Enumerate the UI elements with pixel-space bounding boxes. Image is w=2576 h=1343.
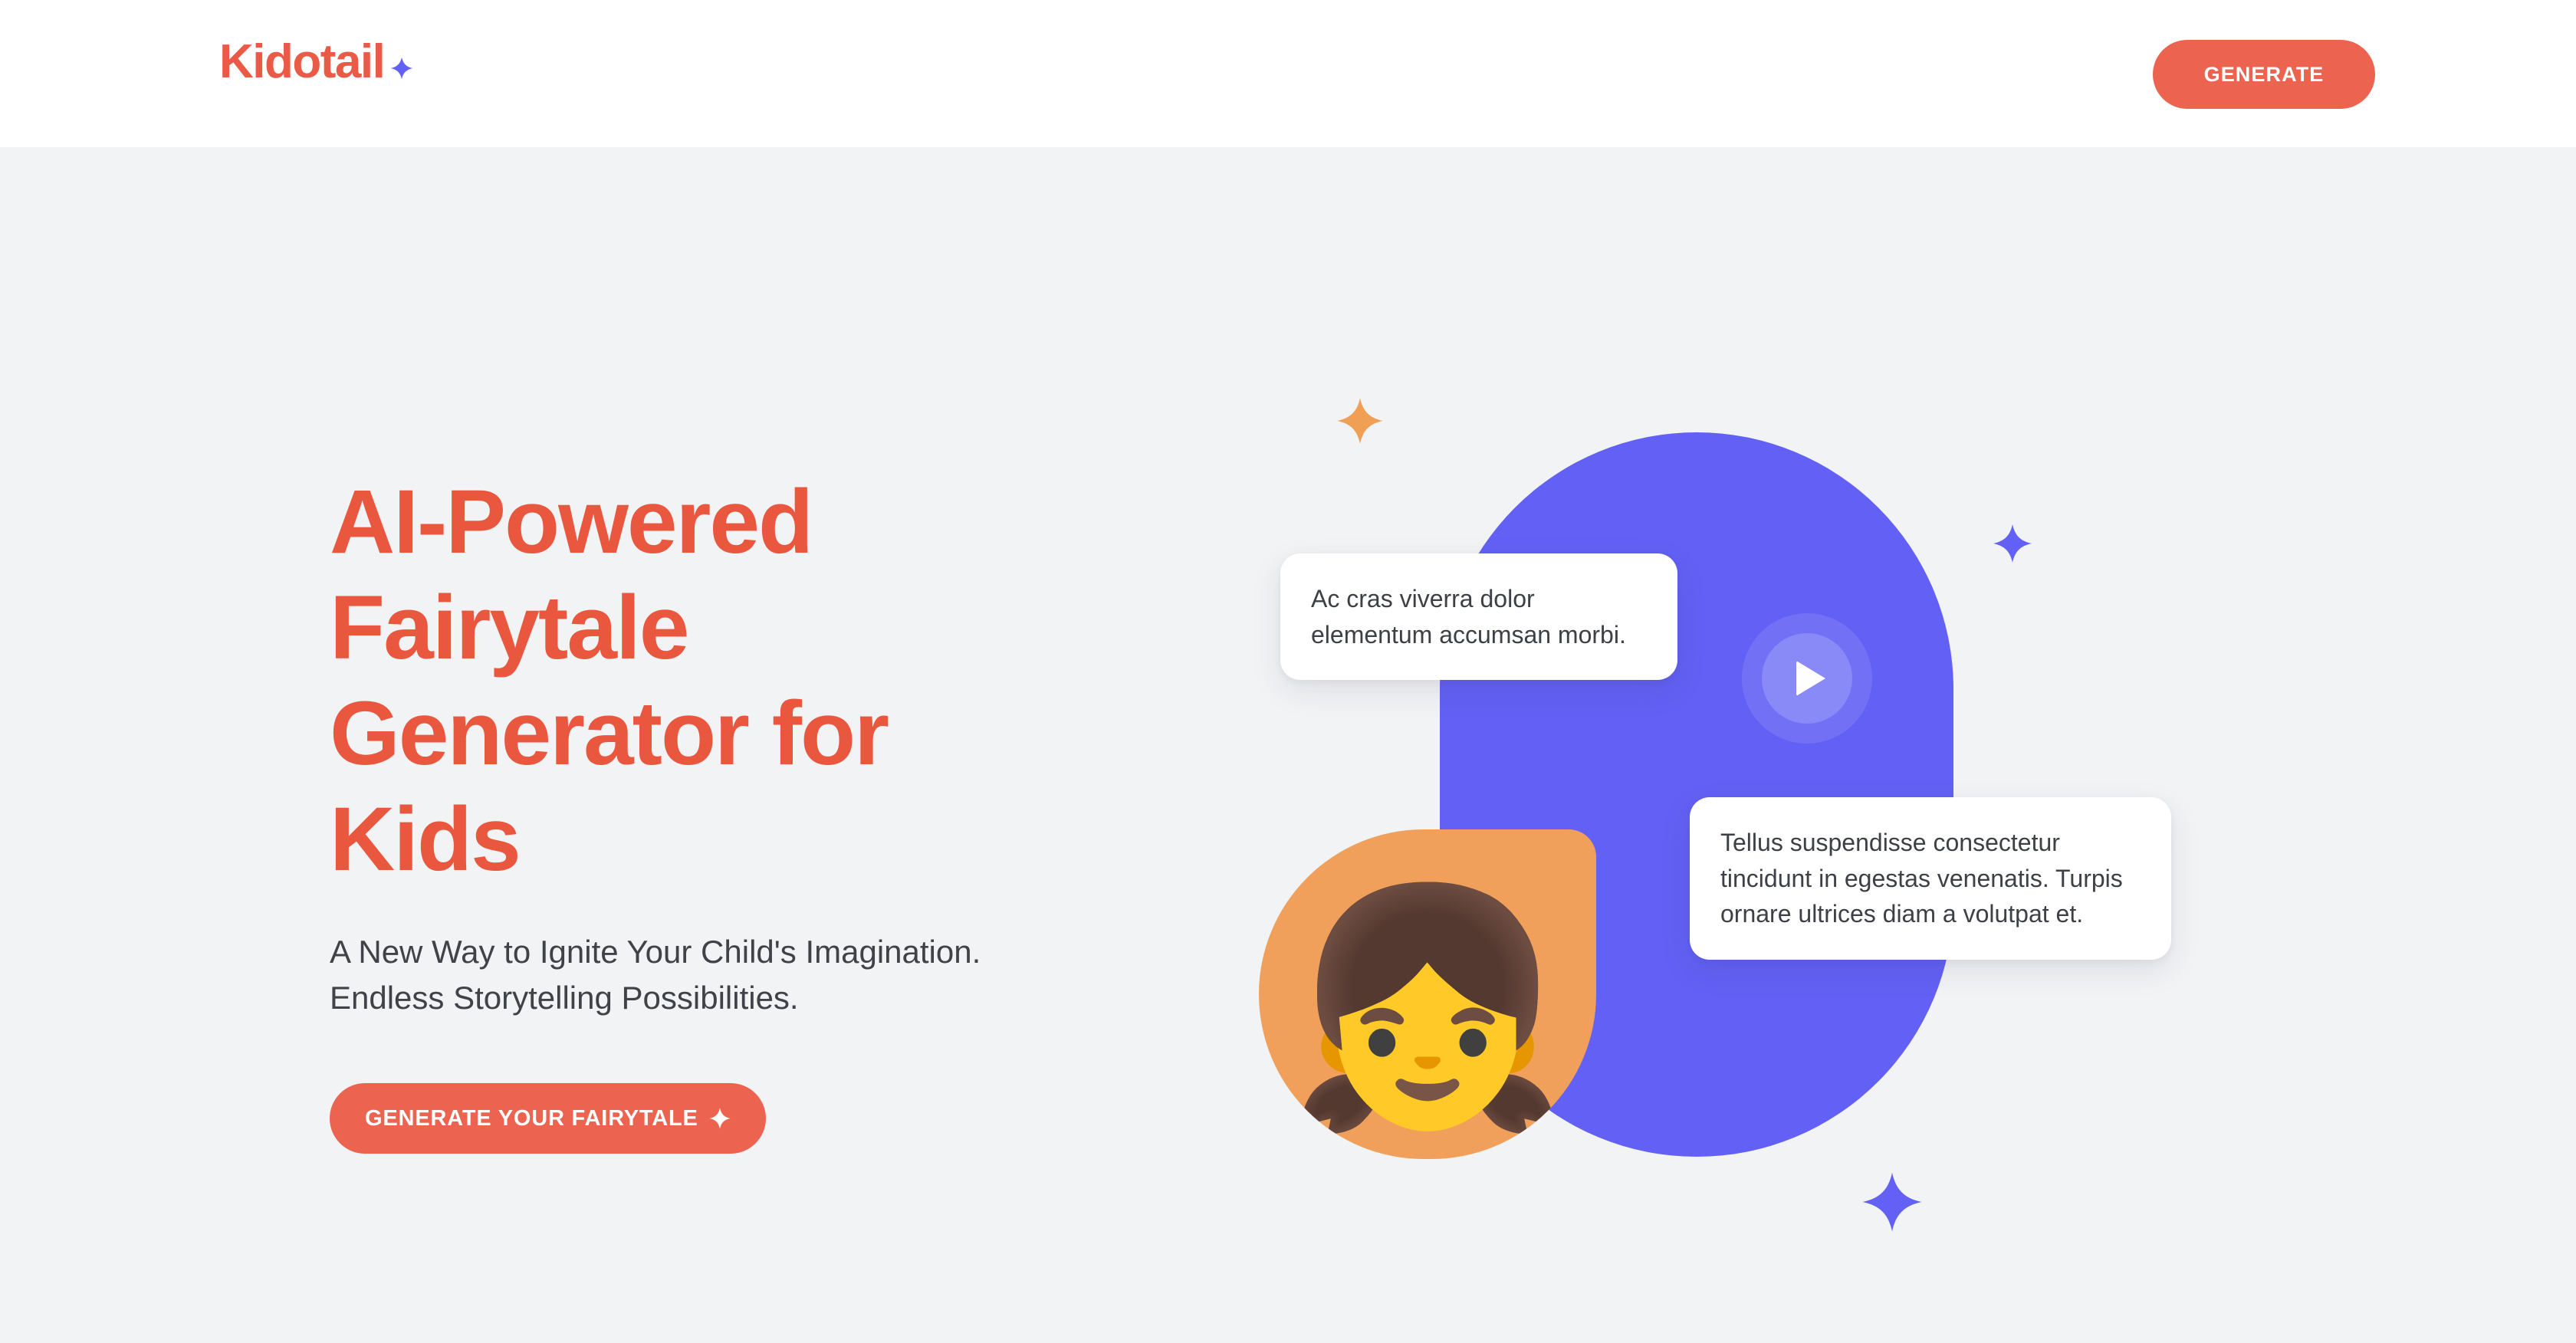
- sparkle-icon: [390, 57, 413, 80]
- site-header: Kidotail GENERATE: [0, 0, 2576, 147]
- avatar: 👧: [1259, 829, 1596, 1159]
- sparkle-icon: [1993, 524, 2032, 563]
- generate-your-fairytale-button[interactable]: GENERATE YOUR FAIRYTALE: [330, 1083, 766, 1154]
- generate-button[interactable]: GENERATE: [2153, 40, 2375, 109]
- speech-bubble: Tellus suspendisse consectetur tincidunt…: [1690, 797, 2171, 960]
- play-button-outer-ring[interactable]: [1742, 613, 1872, 744]
- hero-subtitle: A New Way to Ignite Your Child's Imagina…: [330, 929, 1096, 1020]
- play-icon: [1796, 661, 1825, 696]
- sparkle-icon: [1861, 1171, 1923, 1233]
- hero-text-block: AI-Powered Fairytale Generator for Kids …: [330, 469, 1096, 1154]
- play-button-inner-ring: [1762, 633, 1852, 724]
- girl-avatar-emoji: 👧: [1284, 892, 1571, 1122]
- cta-label: GENERATE YOUR FAIRYTALE: [365, 1106, 698, 1131]
- logo-text: Kidotail: [219, 38, 384, 86]
- logo[interactable]: Kidotail: [219, 38, 413, 86]
- sparkle-icon: [1336, 397, 1384, 445]
- page-title: AI-Powered Fairytale Generator for Kids: [330, 469, 1096, 892]
- sparkle-icon: [709, 1108, 731, 1129]
- speech-bubble: Ac cras viverra dolor elementum accumsan…: [1280, 553, 1677, 680]
